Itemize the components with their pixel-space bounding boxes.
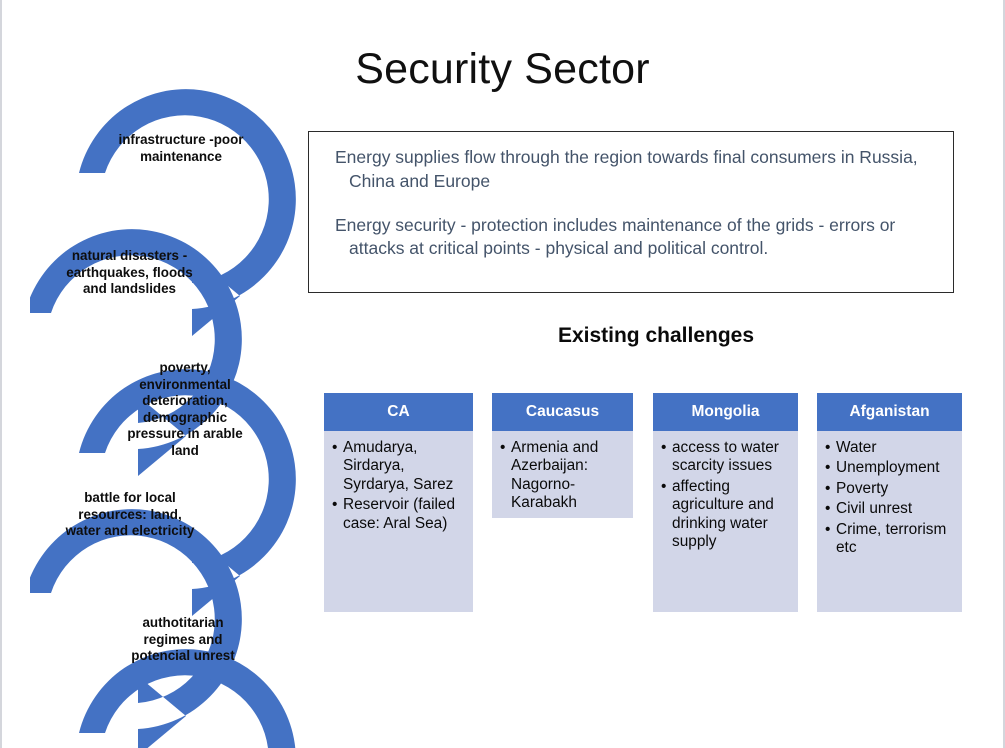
cycle-arrows-svg <box>30 70 310 748</box>
challenge-card-afganistan: Afganistan Water Unemployment Poverty Ci… <box>817 393 962 612</box>
list-item: Unemployment <box>825 459 956 477</box>
card-title-mongolia: Mongolia <box>653 393 798 431</box>
circular-arrow-2 <box>30 229 242 476</box>
slide-canvas: Security Sector Energy supplies flow thr… <box>0 0 1005 748</box>
list-item: Water <box>825 439 956 457</box>
card-list-caucasus: Armenia and Azerbaijan: Nagorno-Karabakh <box>500 439 627 513</box>
list-item: affecting agriculture and drinking water… <box>661 478 792 552</box>
cycle-diagram: infrastructure -poor maintenance natural… <box>30 70 310 748</box>
card-body-caucasus: Armenia and Azerbaijan: Nagorno-Karabakh <box>492 431 633 518</box>
card-title-afganistan: Afganistan <box>817 393 962 431</box>
circular-arrow-4 <box>30 509 242 748</box>
list-item: Amudarya, Sirdarya, Syrdarya, Sarez <box>332 439 467 494</box>
list-item: Armenia and Azerbaijan: Nagorno-Karabakh <box>500 439 627 513</box>
challenge-card-mongolia: Mongolia access to water scarcity issues… <box>653 393 798 612</box>
challenge-card-caucasus: Caucasus Armenia and Azerbaijan: Nagorno… <box>492 393 633 518</box>
list-item: access to water scarcity issues <box>661 439 792 476</box>
energy-text-box: Energy supplies flow through the region … <box>308 131 954 293</box>
card-body-afganistan: Water Unemployment Poverty Civil unrest … <box>817 431 962 612</box>
card-list-afganistan: Water Unemployment Poverty Civil unrest … <box>825 439 956 558</box>
challenge-card-ca: CA Amudarya, Sirdarya, Syrdarya, Sarez R… <box>324 393 473 612</box>
card-body-ca: Amudarya, Sirdarya, Syrdarya, Sarez Rese… <box>324 431 473 612</box>
circular-arrow-1 <box>79 89 296 336</box>
card-body-mongolia: access to water scarcity issues affectin… <box>653 431 798 612</box>
energy-paragraph-2: Energy security - protection includes ma… <box>335 214 935 262</box>
list-item: Civil unrest <box>825 500 956 518</box>
card-title-caucasus: Caucasus <box>492 393 633 431</box>
existing-challenges-heading: Existing challenges <box>324 324 988 348</box>
energy-paragraph-1: Energy supplies flow through the region … <box>335 146 935 194</box>
list-item: Poverty <box>825 480 956 498</box>
list-item: Crime, terrorism etc <box>825 521 956 558</box>
cycle-arrow-group <box>30 89 296 748</box>
card-list-mongolia: access to water scarcity issues affectin… <box>661 439 792 552</box>
list-item: Reservoir (failed case: Aral Sea) <box>332 496 467 533</box>
card-list-ca: Amudarya, Sirdarya, Syrdarya, Sarez Rese… <box>332 439 467 533</box>
card-title-ca: CA <box>324 393 473 431</box>
